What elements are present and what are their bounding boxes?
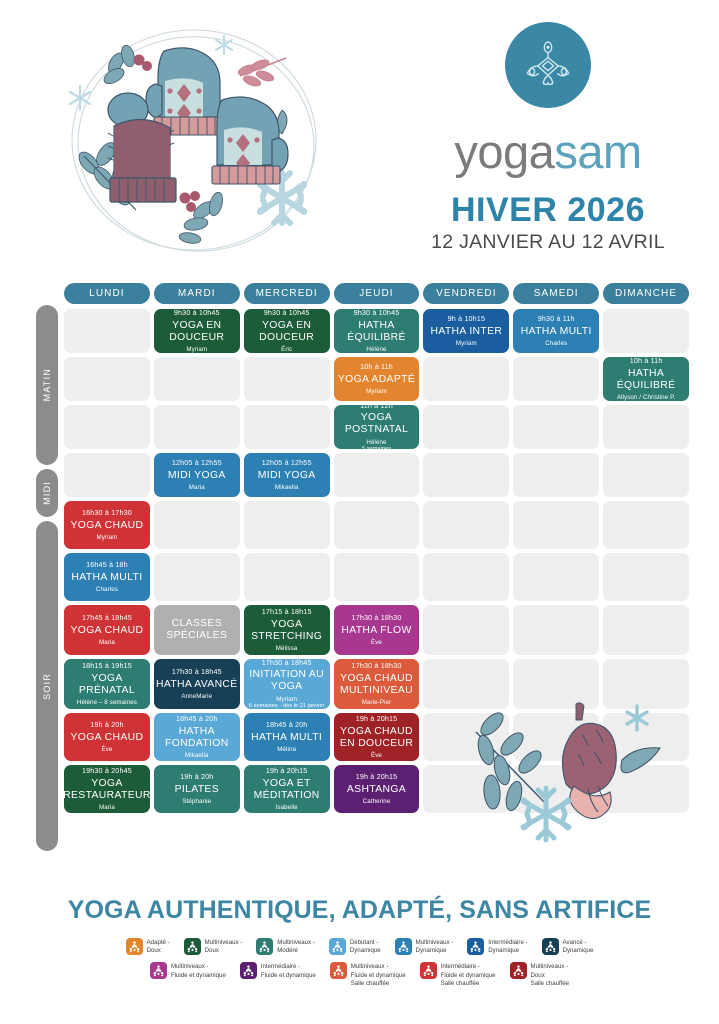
pinecone-and-snowflake-illustration [470, 688, 680, 848]
legend-label: Avancé - Dynamique [563, 938, 594, 955]
class-title: YOGA PRÉNATAL [66, 673, 148, 697]
class-title: MIDI YOGA [258, 470, 316, 482]
day-header-samedi: SAMEDI [513, 283, 599, 304]
legend-item: Multiniveaux - Fluide et dynamique Salle… [330, 962, 406, 988]
day-header-mercredi: MERCREDI [244, 283, 330, 304]
schedule-row: 16h30 à 17h30YOGA CHAUDMyriam [64, 501, 689, 549]
class-cell[interactable]: 19h à 20h15YOGA CHAUD EN DOUCEURÈve [334, 713, 420, 761]
yoga-lotus-figure-icon [505, 22, 591, 108]
class-cell[interactable]: 10h à 11hHATHA ÉQUILIBRÉAllyson / Christ… [603, 357, 689, 401]
winter-mittens-and-hat-illustration [44, 18, 344, 270]
class-teacher: Maria [99, 639, 115, 647]
class-time: 9h30 à 10h45 [174, 309, 220, 317]
class-time: 18h45 à 20h [266, 720, 308, 729]
level-badge-icon [467, 938, 484, 955]
class-teacher: Allyson / Christine P. [617, 394, 675, 401]
class-title: YOGA CHAUD MULTINIVEAU [336, 673, 418, 697]
class-cell-empty [513, 501, 599, 549]
level-badge-icon [150, 962, 167, 979]
class-time: 10h à 11h [630, 357, 663, 365]
level-badge-icon [329, 938, 346, 955]
class-cell[interactable]: 9h30 à 10h45HATHA ÉQUILIBRÉHélène [334, 309, 420, 353]
class-cell[interactable]: 9h30 à 11hHATHA MULTICharles [513, 309, 599, 353]
schedule-row: 17h45 à 18h45YOGA CHAUDMariaCLASSES SPÉC… [64, 605, 689, 655]
class-cell-empty [64, 453, 150, 497]
day-header-jeudi: JEUDI [334, 283, 420, 304]
class-teacher: Myriam [276, 696, 297, 704]
class-cell-empty [154, 405, 240, 449]
legend-item: Multiniveaux - Dynamique [395, 938, 454, 955]
class-cell-empty [513, 553, 599, 601]
level-badge-icon [330, 962, 347, 979]
class-cell[interactable]: 18h45 à 20hHATHA FONDATIONMikaella [154, 713, 240, 761]
legend-item: Intermédiaire - Fluide et dynamique Sall… [420, 962, 496, 988]
class-title: MIDI YOGA [168, 470, 226, 482]
class-cell-empty [423, 553, 509, 601]
class-cell-empty [244, 357, 330, 401]
class-time: 16h45 à 18h [86, 560, 128, 569]
class-title: HATHA MULTI [71, 572, 142, 584]
class-cell-empty [423, 605, 509, 655]
class-title: YOGA POSTNATAL [336, 412, 418, 436]
class-title: HATHA INTER [430, 326, 502, 338]
class-time: 17h30 à 18h45 [172, 667, 222, 676]
class-cell[interactable]: 17h30 à 18h30HATHA FLOWÈve [334, 605, 420, 655]
class-cell-empty [513, 453, 599, 497]
class-title: YOGA EN DOUCEUR [156, 320, 238, 344]
legend-item: Intermédiaire - Dynamique [467, 938, 527, 955]
level-badge-icon [126, 938, 143, 955]
class-teacher: AnneMarie [181, 693, 212, 701]
class-teacher: Éric [281, 346, 292, 353]
class-teacher: Catherine [363, 798, 391, 806]
legend-label: Multiniveaux - Fluide et dynamique Salle… [351, 962, 406, 988]
class-teacher: Charles [96, 586, 118, 594]
legend-label: Intermédiaire - Fluide et dynamique [261, 962, 316, 979]
legend-row-2: Multiniveaux - Fluide et dynamiqueInterm… [0, 962, 719, 988]
period-label-matin: MATIN [36, 305, 58, 465]
class-teacher: Mélina [277, 746, 296, 754]
class-time: 9h30 à 10h45 [264, 309, 310, 317]
class-cell-empty [64, 309, 150, 353]
period-label-text: MIDI [42, 481, 52, 505]
period-label-text: SOIR [42, 673, 52, 700]
class-title: YOGA CHAUD EN DOUCEUR [336, 726, 418, 750]
class-note: 6 semaines - dès le 21 janvier [249, 703, 325, 709]
class-time: 18h15 à 19h15 [82, 661, 132, 670]
wordmark-sam: sam [554, 125, 641, 178]
class-cell[interactable]: 18h15 à 19h15YOGA PRÉNATALHélène – 8 sem… [64, 659, 150, 709]
poster-tagline: YOGA AUTHENTIQUE, ADAPTÉ, SANS ARTIFICE [0, 896, 719, 925]
class-teacher: Myriam [456, 340, 477, 348]
class-cell-empty [603, 501, 689, 549]
class-time: 19h à 20h [180, 772, 213, 781]
legend-row-1: Adapté - DouxMultiniveaux - DouxMultiniv… [0, 938, 719, 955]
class-teacher: Mélissa [276, 645, 298, 653]
class-cell[interactable]: CLASSES SPÉCIALES [154, 605, 240, 655]
class-time: 17h30 à 18h45 [262, 659, 312, 667]
class-cell[interactable]: 16h45 à 18hHATHA MULTICharles [64, 553, 150, 601]
legend-label: Multiniveaux - Fluide et dynamique [171, 962, 226, 979]
class-time: 17h15 à 18h15 [262, 607, 312, 616]
class-time: 10h à 11h [360, 362, 393, 371]
level-badge-icon [240, 962, 257, 979]
legend-item: Multiniveaux - Doux [184, 938, 243, 955]
class-cell[interactable]: 17h30 à 18h45INITIATION AU YOGAMyriam6 s… [244, 659, 330, 709]
class-cell[interactable]: 17h45 à 18h45YOGA CHAUDMaria [64, 605, 150, 655]
class-title: HATHA AVANCÉ [156, 679, 238, 691]
legend-section: Adapté - DouxMultiniveaux - DouxMultiniv… [0, 938, 719, 995]
period-label-midi: MIDI [36, 469, 58, 517]
class-time: 19h30 à 20h45 [82, 766, 132, 775]
class-cell[interactable]: 19h à 20h15ASHTANGACatherine [334, 765, 420, 813]
class-cell[interactable]: 9h30 à 10h45YOGA EN DOUCEURMyriam [154, 309, 240, 353]
legend-label: Multiniveaux - Dynamique [416, 938, 454, 955]
class-teacher: Ève [371, 639, 382, 647]
poster-root: yogasam HIVER 2026 12 JANVIER AU 12 AVRI… [0, 0, 719, 1024]
class-cell[interactable]: 17h30 à 18h30YOGA CHAUD MULTINIVEAUMarie… [334, 659, 420, 709]
level-badge-icon [420, 962, 437, 979]
legend-item: Multiniveaux - Doux Salle chauffée [510, 962, 570, 988]
class-cell-empty [603, 605, 689, 655]
class-teacher: Ève [371, 752, 382, 760]
class-time: 9h30 à 11h [538, 314, 575, 323]
class-cell[interactable]: 19h à 20hYOGA CHAUDÈve [64, 713, 150, 761]
class-time: 19h à 20h15 [266, 766, 308, 775]
class-cell-empty [423, 357, 509, 401]
class-time: 17h30 à 18h30 [352, 661, 402, 670]
class-cell-empty [154, 553, 240, 601]
class-title: HATHA MULTI [521, 326, 592, 338]
class-title: HATHA FONDATION [156, 726, 238, 750]
class-cell[interactable]: 19h à 20h15YOGA ET MÉDITATIONIsabelle [244, 765, 330, 813]
class-teacher: Mikaella [185, 752, 209, 760]
level-badge-icon [395, 938, 412, 955]
brand-block: yogasam HIVER 2026 12 JANVIER AU 12 AVRI… [413, 22, 683, 254]
poster-header: yogasam HIVER 2026 12 JANVIER AU 12 AVRI… [0, 0, 719, 275]
schedule-row: 11h à 12hYOGA POSTNATALHélène5 semaines [64, 405, 689, 449]
legend-label: Multiniveaux - Doux [205, 938, 243, 955]
legend-item: Avancé - Dynamique [542, 938, 594, 955]
class-cell[interactable]: 16h30 à 17h30YOGA CHAUDMyriam [64, 501, 150, 549]
class-title: YOGA ADAPTÉ [338, 374, 415, 386]
class-time: 16h30 à 17h30 [82, 508, 132, 517]
class-cell-empty [64, 405, 150, 449]
class-time: 18h45 à 20h [176, 714, 218, 723]
legend-label: Multiniveaux - Doux Salle chauffée [531, 962, 570, 988]
class-title: HATHA MULTI [251, 732, 322, 744]
class-title: YOGA EN DOUCEUR [246, 320, 328, 344]
legend-label: Multiniveaux - Modéré [277, 938, 315, 955]
class-teacher: Myriam [96, 534, 117, 542]
class-title: YOGA ET MÉDITATION [246, 778, 328, 802]
class-cell-empty [603, 309, 689, 353]
level-badge-icon [542, 938, 559, 955]
class-teacher: Maria [99, 804, 115, 812]
class-cell[interactable]: 12h05 à 12h55MIDI YOGAMikaella [244, 453, 330, 497]
season-title: HIVER 2026 [413, 191, 683, 230]
schedule-row: 12h05 à 12h55MIDI YOGAMaria12h05 à 12h55… [64, 453, 689, 497]
class-cell-empty [513, 405, 599, 449]
level-badge-icon [510, 962, 527, 979]
class-cell[interactable]: 18h45 à 20hHATHA MULTIMélina [244, 713, 330, 761]
class-teacher: Myriam [366, 388, 387, 396]
class-title: HATHA FLOW [341, 625, 411, 637]
period-label-text: MATIN [42, 368, 52, 401]
class-teacher: Stéphanie [182, 798, 211, 806]
class-teacher: Charles [545, 340, 567, 348]
class-title: HATHA ÉQUILIBRÉ [336, 320, 418, 344]
class-teacher: Mikaella [275, 484, 299, 492]
class-note: 5 semaines [362, 446, 391, 449]
class-cell-empty [513, 357, 599, 401]
day-header-lundi: LUNDI [64, 283, 150, 304]
legend-label: Débutant - Dynamique [350, 938, 381, 955]
class-title: INITIATION AU YOGA [246, 669, 328, 693]
class-teacher: Hélène [366, 439, 386, 447]
class-cell-empty [244, 405, 330, 449]
schedule-row: 16h45 à 18hHATHA MULTICharles [64, 553, 689, 601]
class-title: YOGA CHAUD [71, 732, 144, 744]
day-header-vendredi: VENDREDI [423, 283, 509, 304]
class-cell-empty [603, 553, 689, 601]
day-header-row: LUNDIMARDIMERCREDIJEUDIVENDREDISAMEDIDIM… [64, 283, 689, 304]
class-title: YOGA RESTAURATEUR [64, 778, 150, 802]
class-cell[interactable]: 12h05 à 12h55MIDI YOGAMaria [154, 453, 240, 497]
day-header-mardi: MARDI [154, 283, 240, 304]
class-title: PILATES [175, 784, 219, 796]
class-cell-empty [603, 405, 689, 449]
class-cell[interactable]: 11h à 12hYOGA POSTNATALHélène5 semaines [334, 405, 420, 449]
class-cell[interactable]: 19h à 20hPILATESStéphanie [154, 765, 240, 813]
class-cell[interactable]: 9h30 à 10h45YOGA EN DOUCEURÉric [244, 309, 330, 353]
wordmark-yoga: yoga [454, 125, 554, 178]
class-time: 19h à 20h15 [356, 714, 398, 723]
class-teacher: Isabelle [276, 804, 298, 812]
class-time: 17h45 à 18h45 [82, 613, 132, 622]
level-badge-icon [256, 938, 273, 955]
class-cell[interactable]: 17h15 à 18h15YOGA STRETCHINGMélissa [244, 605, 330, 655]
class-title: YOGA CHAUD [71, 625, 144, 637]
class-teacher: Marie-Pier [362, 699, 392, 707]
class-time: 12h05 à 12h55 [262, 458, 312, 467]
class-cell-empty [603, 453, 689, 497]
class-cell-empty [423, 453, 509, 497]
class-time: 17h30 à 18h30 [352, 613, 402, 622]
class-cell[interactable]: 17h30 à 18h45HATHA AVANCÉAnneMarie [154, 659, 240, 709]
class-cell-empty [334, 553, 420, 601]
class-cell-empty [334, 501, 420, 549]
class-cell[interactable]: 9h à 10h15HATHA INTERMyriam [423, 309, 509, 353]
class-time: 9h à 10h15 [448, 314, 485, 323]
class-cell-empty [334, 453, 420, 497]
class-cell-empty [513, 605, 599, 655]
class-teacher: Hélène – 8 semaines [77, 699, 137, 707]
class-title: CLASSES SPÉCIALES [156, 618, 238, 642]
class-teacher: Hélène [366, 346, 386, 353]
season-dates: 12 JANVIER AU 12 AVRIL [413, 231, 683, 254]
legend-item: Multiniveaux - Modéré [256, 938, 315, 955]
class-cell-empty [244, 553, 330, 601]
class-title: HATHA ÉQUILIBRÉ [605, 368, 687, 392]
day-header-dimanche: DIMANCHE [603, 283, 689, 304]
class-time: 19h à 20h15 [356, 772, 398, 781]
class-teacher: Myriam [186, 346, 207, 353]
class-cell-empty [423, 405, 509, 449]
brand-wordmark: yogasam [413, 128, 683, 175]
class-cell-empty [154, 501, 240, 549]
class-cell-empty [244, 501, 330, 549]
class-teacher: Maria [189, 484, 205, 492]
class-title: YOGA CHAUD [71, 520, 144, 532]
legend-item: Multiniveaux - Fluide et dynamique [150, 962, 226, 979]
class-time: 9h30 à 10h45 [354, 309, 400, 317]
legend-label: Adapté - Doux [147, 938, 170, 955]
class-title: YOGA STRETCHING [246, 619, 328, 643]
period-label-soir: SOIR [36, 521, 58, 851]
level-badge-icon [184, 938, 201, 955]
class-teacher: Ève [101, 746, 112, 754]
class-cell[interactable]: 19h30 à 20h45YOGA RESTAURATEURMaria [64, 765, 150, 813]
class-cell-empty [154, 357, 240, 401]
legend-label: Intermédiaire - Fluide et dynamique Sall… [441, 962, 496, 988]
legend-item: Débutant - Dynamique [329, 938, 381, 955]
class-cell-empty [64, 357, 150, 401]
class-cell[interactable]: 10h à 11hYOGA ADAPTÉMyriam [334, 357, 420, 401]
class-time: 19h à 20h [90, 720, 123, 729]
legend-item: Intermédiaire - Fluide et dynamique [240, 962, 316, 979]
schedule-row: 10h à 11hYOGA ADAPTÉMyriam10h à 11hHATHA… [64, 357, 689, 401]
class-time: 11h à 12h [360, 405, 393, 410]
class-time: 12h05 à 12h55 [172, 458, 222, 467]
class-title: ASHTANGA [347, 784, 406, 796]
class-cell-empty [423, 501, 509, 549]
legend-item: Adapté - Doux [126, 938, 170, 955]
legend-label: Intermédiaire - Dynamique [488, 938, 527, 955]
schedule-row: 9h30 à 10h45YOGA EN DOUCEURMyriam9h30 à … [64, 309, 689, 353]
